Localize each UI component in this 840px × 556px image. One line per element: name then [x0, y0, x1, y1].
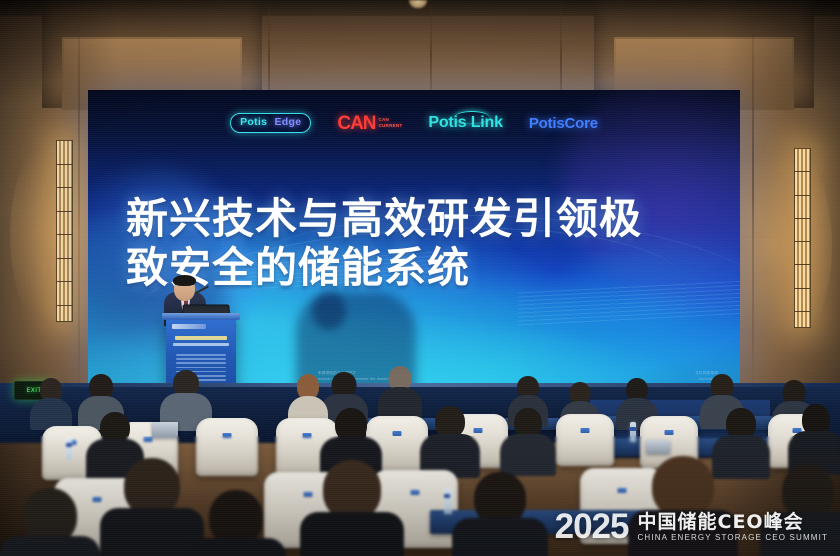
wall-sconce-right — [794, 148, 811, 328]
audience-person — [760, 464, 840, 556]
podium-logo — [172, 324, 206, 329]
audience-person — [0, 488, 100, 556]
watermark-title-en: CHINA ENERGY STORAGE CEO SUMMIT — [638, 534, 829, 542]
audience-laptop — [646, 440, 670, 454]
audience-person — [788, 404, 840, 470]
audience-laptop — [152, 422, 178, 438]
wall-sconce-left — [56, 140, 73, 322]
water-bottle — [630, 422, 636, 442]
event-watermark: 2025 中国储能CEO峰会 CHINA ENERGY STORAGE CEO … — [555, 512, 828, 542]
audience-person — [378, 366, 422, 418]
audience-chair — [196, 418, 258, 476]
water-bottle — [66, 438, 72, 460]
water-bottle — [444, 488, 452, 514]
podium-top-surface — [162, 313, 240, 320]
audience-person — [186, 490, 286, 556]
podium-sign-title — [175, 336, 227, 340]
watermark-year: 2025 — [555, 512, 629, 542]
audience-person — [452, 472, 548, 556]
speaker-glasses — [175, 284, 194, 289]
audience-person — [500, 408, 556, 470]
audience-person — [420, 406, 480, 472]
audience-person — [30, 378, 72, 426]
watermark-title-cn: 中国储能CEO峰会 — [638, 513, 829, 532]
conference-photo: Potis Edge CAN CAN CURRENT Potis Link Po… — [0, 0, 840, 556]
watermark-titles: 中国储能CEO峰会 CHINA ENERGY STORAGE CEO SUMMI… — [638, 513, 829, 542]
audience-chair — [556, 414, 614, 466]
podium-sign-subtitle — [173, 343, 229, 346]
audience-person — [160, 370, 212, 426]
audience-person — [300, 460, 404, 556]
